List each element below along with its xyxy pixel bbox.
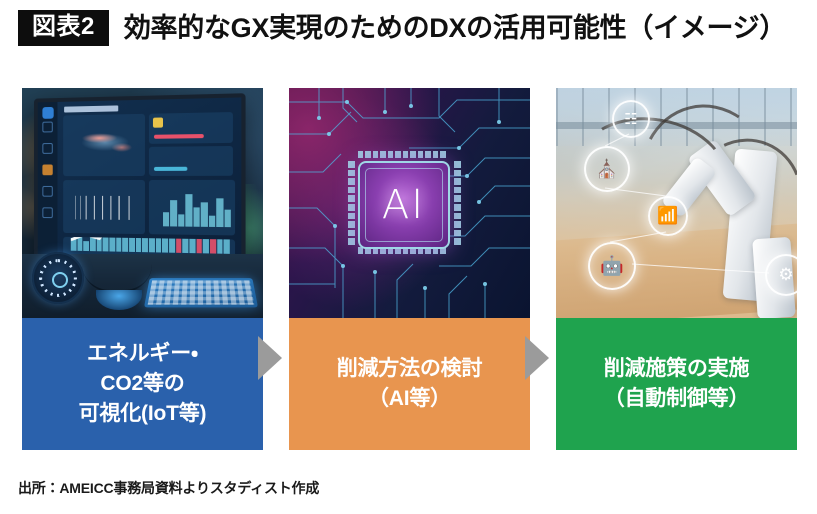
arrow-right-icon	[525, 336, 549, 380]
caption-line-1: 削減施策の実施	[604, 357, 750, 380]
panel-implementation: ☷ ⛪ 📶 🤖 ⚙ 削減施策の実施 （自動制御等）	[556, 88, 797, 450]
chip-pins-right	[454, 161, 461, 245]
arrow-right-icon	[258, 336, 282, 380]
iot-robot-icon: 🤖	[588, 242, 636, 290]
kpi-badge-icon	[153, 117, 163, 127]
panel-visualization-image	[22, 88, 263, 318]
caption-text: 削減施策の実施 （自動制御等）	[604, 354, 750, 414]
kpi-card-1	[149, 112, 233, 143]
desk-gauge	[32, 252, 84, 304]
line-chart-path	[71, 196, 140, 220]
figure-header-inner: 図表2 効率的なGX実現のためのDXの活用可能性（イメージ）	[18, 10, 786, 46]
ai-chip-label: AI	[382, 185, 425, 225]
kpi-bar	[154, 167, 187, 171]
panel-analysis: AI 削減方法の検討 （AI等）	[289, 88, 530, 450]
dashboard-logo-icon	[42, 107, 53, 119]
kpi-bar	[154, 134, 204, 139]
dashboard-kpi-cards	[149, 112, 233, 176]
sidebar-settings-icon	[42, 207, 52, 218]
caption-line-3: 可視化(IoT等)	[79, 402, 207, 425]
caption-line-2: （自動制御等）	[604, 387, 750, 410]
sidebar-energy-icon	[42, 164, 52, 175]
panel-visualization-caption: エネルギー・ CO2等の 可視化(IoT等)	[22, 318, 263, 450]
ai-chip: AI	[358, 161, 450, 249]
dashboard-row-mid	[63, 180, 235, 236]
combo-chart-trendline	[71, 237, 235, 255]
panel-implementation-caption: 削減施策の実施 （自動制御等）	[556, 318, 797, 450]
iot-network-icon: ☷	[612, 100, 650, 138]
dashboard-screen	[38, 97, 242, 270]
dashboard-sidebar	[38, 102, 58, 266]
dashboard-row-top	[63, 112, 235, 176]
figure-header: 図表2 効率的なGX実現のためのDXの活用可能性（イメージ）	[0, 0, 817, 78]
panels-row: エネルギー・ CO2等の 可視化(IoT等)	[0, 88, 817, 452]
sidebar-report-icon	[42, 186, 52, 197]
chip-pins-left	[348, 161, 355, 245]
chip-pins-top	[358, 151, 446, 158]
sidebar-chart-icon	[42, 143, 52, 154]
bar-chart	[149, 180, 235, 236]
scatter-points	[71, 120, 140, 164]
desk-keyboard	[144, 278, 258, 307]
caption-text: エネルギー・ CO2等の 可視化(IoT等)	[79, 339, 207, 428]
figure-number-badge: 図表2	[18, 10, 109, 46]
dashboard-title-bar	[64, 105, 118, 112]
panel-analysis-image: AI	[289, 88, 530, 318]
source-note: 出所：AMEICC事務局資料よりスタディスト作成	[18, 478, 319, 498]
panel-visualization: エネルギー・ CO2等の 可視化(IoT等)	[22, 88, 263, 450]
caption-line-1: 削減方法の検討	[337, 357, 483, 380]
kpi-card-2	[149, 145, 233, 176]
panel-implementation-image: ☷ ⛪ 📶 🤖 ⚙	[556, 88, 797, 318]
iot-wifi-icon: 📶	[648, 196, 688, 236]
caption-line-1: エネルギー・	[87, 342, 198, 365]
caption-text: 削減方法の検討 （AI等）	[337, 354, 483, 414]
sidebar-home-icon	[42, 122, 52, 133]
caption-line-2: CO2等の	[100, 372, 184, 395]
scatter-chart	[63, 114, 145, 176]
panel-analysis-caption: 削減方法の検討 （AI等）	[289, 318, 530, 450]
energy-dashboard-monitor	[34, 93, 246, 275]
iot-factory-icon: ⛪	[584, 146, 630, 192]
bar-chart-bars	[155, 190, 231, 227]
line-chart	[63, 180, 145, 234]
dashboard-main	[57, 97, 241, 270]
caption-line-2: （AI等）	[368, 387, 451, 410]
page-title: 効率的なGX実現のためのDXの活用可能性（イメージ）	[124, 15, 786, 42]
